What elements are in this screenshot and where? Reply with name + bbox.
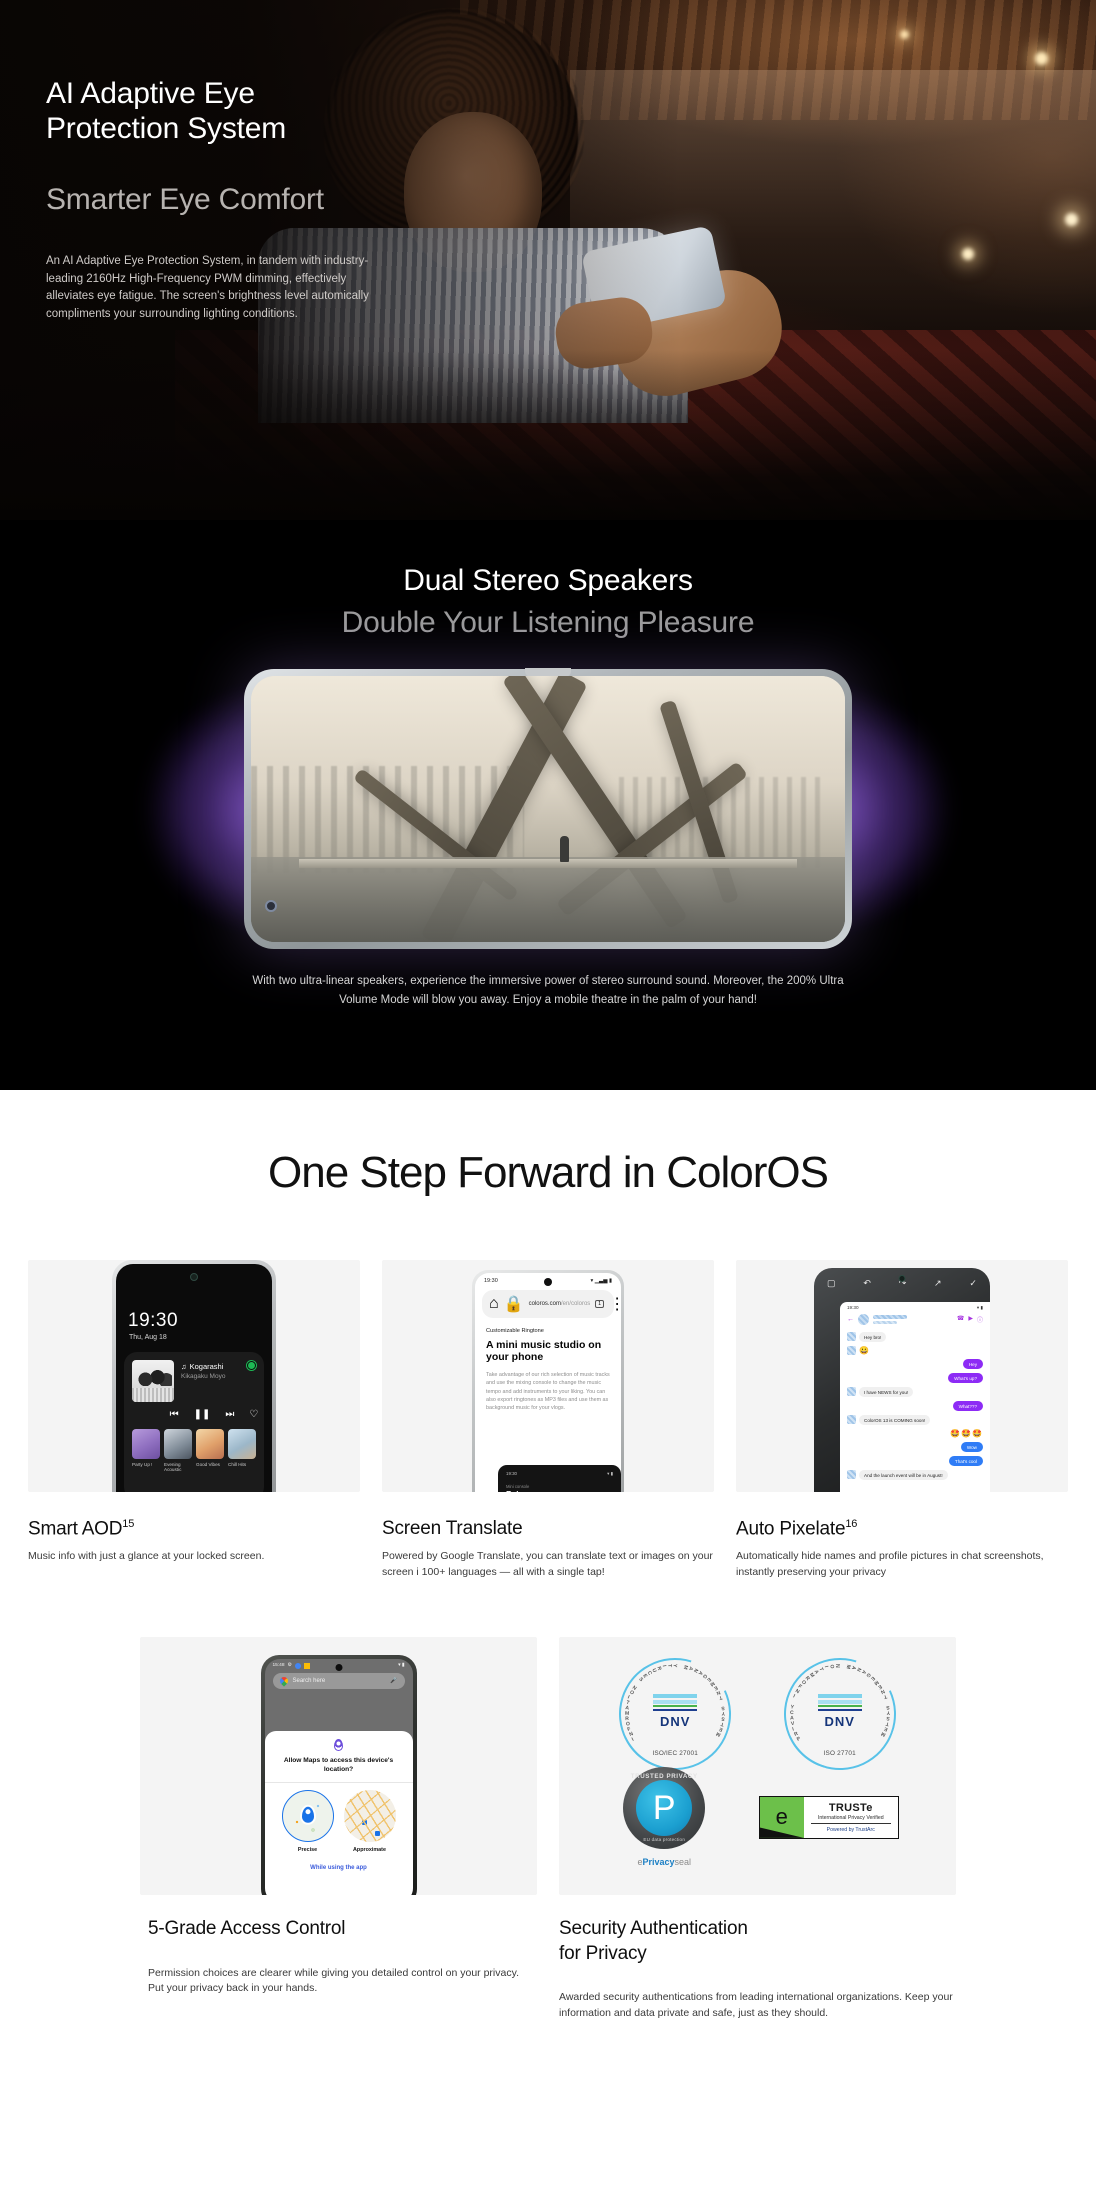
divider bbox=[811, 1823, 891, 1824]
precise-map-preview bbox=[282, 1790, 334, 1842]
feature-card-access-control: 15:48 ⚙ ▾ ▮ Search here 🎤 bbox=[140, 1637, 537, 2022]
security-auth-media: INFORMATION SECURITY MANAGEMENT SYSTEM D… bbox=[559, 1637, 956, 1895]
permission-options: Precise Approximate bbox=[274, 1790, 404, 1853]
bokeh-light bbox=[1035, 52, 1048, 65]
page-heading: A mini music studio on your phone bbox=[486, 1339, 610, 1364]
url-domain: coloros.com bbox=[529, 1301, 561, 1307]
avatar-pixelated bbox=[847, 1470, 856, 1479]
badge-eprivacyseal: TRUSTED PRIVACY P EU data protection ePr… bbox=[616, 1767, 712, 1867]
security-auth-title-line1: Security Authentication bbox=[559, 1918, 748, 1939]
access-control-media: 15:48 ⚙ ▾ ▮ Search here 🎤 bbox=[140, 1637, 537, 1895]
access-control-desc: Permission choices are clearer while giv… bbox=[140, 1966, 537, 1998]
app-badge-icon bbox=[295, 1663, 301, 1669]
undo-icon[interactable]: ↶ bbox=[863, 1278, 871, 1289]
chat-message-row: ColorOS 13 is COMING soon! bbox=[847, 1415, 983, 1425]
aod-now-playing-row: ♫ Kogarashi Kikagaku Moyo bbox=[132, 1360, 256, 1402]
inner-status-icons: ▾ ▮ bbox=[607, 1471, 613, 1477]
speakers-subtitle: Double Your Listening Pleasure bbox=[0, 606, 1096, 640]
auto-pixelate-desc: Automatically hide names and profile pic… bbox=[736, 1549, 1068, 1581]
translate-phone-screen: 19:30 ▾ ▁▃▅ ▮ ⌂ 🔒 coloros.com/en/coloros… bbox=[475, 1273, 621, 1492]
eprivacy-bottom-text: EU data protection bbox=[623, 1837, 705, 1842]
playlist-thumbnail bbox=[228, 1429, 256, 1459]
game-hud-icon bbox=[265, 900, 277, 912]
dual-stereo-speakers-section: Dual Stereo Speakers Double Your Listeni… bbox=[0, 520, 1096, 1090]
certification-badges: INFORMATION SECURITY MANAGEMENT SYSTEM D… bbox=[559, 1637, 956, 1895]
dnv-logo: DNV bbox=[653, 1694, 697, 1729]
truste-text-block: TRUSTe International Privacy Verified Po… bbox=[804, 1797, 898, 1838]
aod-playlist-row: Party Up ! Evening Acoustic Good Vibes bbox=[132, 1429, 256, 1473]
badge-dnv-iso-27701: PRIVACY INFORMATION MANAGEMENT SYSTEM DN… bbox=[784, 1658, 896, 1770]
dnv-logo: DNV bbox=[818, 1694, 862, 1729]
approximate-map-preview bbox=[344, 1790, 396, 1842]
permission-dialog: Allow Maps to access this device's locat… bbox=[265, 1731, 413, 1895]
playlist-item[interactable]: Good Vibes bbox=[196, 1429, 224, 1473]
truste-powered-by: Powered by TrustArc bbox=[808, 1827, 894, 1833]
translate-phone-mock: 19:30 ▾ ▁▃▅ ▮ ⌂ 🔒 coloros.com/en/coloros… bbox=[472, 1270, 624, 1492]
while-using-app-button[interactable]: While using the app bbox=[274, 1865, 404, 1871]
precise-location-pin-icon bbox=[302, 1806, 314, 1822]
playlist-label: Good Vibes bbox=[196, 1462, 224, 1468]
chat-bubble-outgoing: What??? bbox=[953, 1401, 983, 1411]
feature-card-smart-aod: 19:30 Thu, Aug 18 ♫ Kogarashi bbox=[28, 1260, 360, 1581]
playlist-item[interactable]: Evening Acoustic bbox=[164, 1429, 192, 1473]
eprivacy-caption: ePrivacyseal bbox=[616, 1857, 712, 1867]
browser-url-bar[interactable]: ⌂ 🔒 coloros.com/en/coloros 1 ⋮ bbox=[482, 1290, 614, 1318]
eye-body-text: An AI Adaptive Eye Protection System, in… bbox=[46, 253, 392, 324]
security-auth-desc: Awarded security authentications from le… bbox=[559, 1990, 956, 2022]
pixelate-phone-mock: ▢ ↶ ↷ ↗ ✓ 19:30 ▾ ▮ ← bbox=[814, 1268, 990, 1492]
auto-pixelate-title: Auto Pixelate16 bbox=[736, 1518, 1068, 1540]
aod-music-widget[interactable]: ♫ Kogarashi Kikagaku Moyo ⏮ ❚❚ ⏭ bbox=[124, 1352, 264, 1492]
chat-status-time: 19:30 bbox=[847, 1305, 859, 1311]
chat-message-row: 🤩🤩🤩 bbox=[847, 1429, 983, 1438]
chat-bubble-outgoing: Wow bbox=[961, 1442, 983, 1452]
chat-bubble-outgoing: Hey bbox=[963, 1359, 983, 1369]
dnv-standard-2: ISO 27701 bbox=[784, 1750, 896, 1757]
dnv-wordmark: DNV bbox=[818, 1714, 862, 1729]
chat-bubble-incoming: Hey bro! bbox=[859, 1332, 886, 1342]
game-scene-character bbox=[560, 836, 569, 862]
smart-aod-desc: Music info with just a glance at your lo… bbox=[28, 1549, 360, 1565]
avatar-pixelated bbox=[847, 1387, 856, 1396]
feature-card-security-auth: INFORMATION SECURITY MANAGEMENT SYSTEM D… bbox=[559, 1637, 956, 2022]
truste-wordmark: TRUSTe bbox=[808, 1802, 894, 1814]
chat-header-actions[interactable]: ☎ ▶ ⓘ bbox=[957, 1315, 983, 1324]
aod-phone-screen: 19:30 Thu, Aug 18 ♫ Kogarashi bbox=[116, 1264, 272, 1492]
auto-pixelate-title-text: Auto Pixelate bbox=[736, 1518, 845, 1539]
chat-message-row: I have NEWS for you! bbox=[847, 1387, 983, 1397]
maps-search-bar[interactable]: Search here 🎤 bbox=[273, 1673, 405, 1689]
eye-title-line2: Protection System bbox=[46, 112, 286, 145]
next-track-icon[interactable]: ⏭ bbox=[225, 1409, 234, 1420]
maps-phone-screen: 15:48 ⚙ ▾ ▮ Search here 🎤 bbox=[265, 1659, 413, 1895]
status-icons: ▾ ▁▃▅ ▮ bbox=[590, 1278, 612, 1284]
chat-message-row: Hey bbox=[847, 1359, 983, 1369]
avatar-pixelated bbox=[847, 1346, 856, 1355]
aod-track-title: Kogarashi bbox=[190, 1362, 224, 1371]
precise-option[interactable]: Precise bbox=[282, 1790, 334, 1853]
certification-row-top: INFORMATION SECURITY MANAGEMENT SYSTEM D… bbox=[593, 1663, 922, 1766]
avatar-pixelated bbox=[847, 1332, 856, 1341]
playlist-label: Chill Hits bbox=[228, 1462, 256, 1468]
avatar bbox=[858, 1314, 869, 1325]
chat-bubble-incoming: ColorOS 13 is COMING soon! bbox=[859, 1415, 930, 1425]
app-badge-icon bbox=[304, 1663, 310, 1669]
contact-name-pixelated bbox=[873, 1315, 953, 1324]
aod-playback-controls[interactable]: ⏮ ❚❚ ⏭ ♡ bbox=[172, 1409, 256, 1420]
security-auth-title-line2: for Privacy bbox=[559, 1943, 647, 1964]
share-icon[interactable]: ↗ bbox=[934, 1278, 942, 1289]
area-marker-icon bbox=[375, 1831, 380, 1836]
dnv-standard-1: ISO/IEC 27001 bbox=[619, 1750, 731, 1757]
maps-search-placeholder: Search here bbox=[293, 1678, 386, 1684]
playlist-item[interactable]: Party Up ! bbox=[132, 1429, 160, 1473]
badge-dnv-iso-27001: INFORMATION SECURITY MANAGEMENT SYSTEM D… bbox=[619, 1658, 731, 1770]
page-paragraph: Take advantage of our rich selection of … bbox=[486, 1371, 610, 1413]
overflow-menu-icon[interactable]: ⋮ bbox=[609, 1294, 621, 1314]
eye-subtitle: Smarter Eye Comfort bbox=[46, 183, 392, 217]
chat-message-list: Hey bro! 😀 Hey What's up? I have NEWS fo… bbox=[840, 1329, 990, 1483]
aod-date: Thu, Aug 18 bbox=[129, 1334, 167, 1341]
bokeh-light bbox=[900, 30, 909, 39]
game-scene-water bbox=[251, 857, 845, 942]
page-content: Customizable Ringtone A mini music studi… bbox=[475, 1318, 621, 1413]
maps-phone-mock: 15:48 ⚙ ▾ ▮ Search here 🎤 bbox=[261, 1655, 417, 1895]
approximate-label: Approximate bbox=[344, 1847, 396, 1853]
page-eyebrow: Customizable Ringtone bbox=[486, 1328, 610, 1334]
landscape-phone-mock bbox=[244, 669, 852, 949]
url-path: /en/coloros bbox=[561, 1301, 590, 1307]
coloros-feature-grid: 19:30 Thu, Aug 18 ♫ Kogarashi bbox=[0, 1260, 1096, 1581]
gear-icon: ⚙ bbox=[288, 1663, 292, 1668]
phone-call-icon[interactable]: ☎ bbox=[957, 1315, 964, 1324]
auto-pixelate-footnote: 16 bbox=[845, 1518, 857, 1530]
music-note-icon: ♫ bbox=[181, 1362, 187, 1371]
truste-logo-icon bbox=[760, 1797, 804, 1838]
smart-aod-footnote: 15 bbox=[122, 1518, 134, 1530]
auto-pixelate-media: ▢ ↶ ↷ ↗ ✓ 19:30 ▾ ▮ ← bbox=[736, 1260, 1068, 1492]
crop-icon[interactable]: ▢ bbox=[827, 1278, 836, 1289]
smart-aod-title: Smart AOD15 bbox=[28, 1518, 360, 1540]
truste-subtitle: International Privacy Verified bbox=[808, 1815, 894, 1821]
chat-status-icons: ▾ ▮ bbox=[977, 1305, 983, 1311]
aod-phone-mock: 19:30 Thu, Aug 18 ♫ Kogarashi bbox=[112, 1260, 276, 1492]
chat-bubble-incoming: I have NEWS for you! bbox=[859, 1387, 913, 1397]
spotify-indicator-icon bbox=[247, 1361, 256, 1370]
punch-hole-camera-icon bbox=[335, 1664, 342, 1671]
divider bbox=[265, 1782, 413, 1783]
eprivacy-caption-privacy: Privacy bbox=[642, 1857, 674, 1867]
aod-track-meta: ♫ Kogarashi Kikagaku Moyo bbox=[181, 1360, 256, 1380]
aod-time: 19:30 bbox=[128, 1310, 178, 1332]
playlist-label: Party Up ! bbox=[132, 1462, 160, 1468]
location-pin-icon bbox=[334, 1739, 343, 1751]
approximate-option[interactable]: Approximate bbox=[344, 1790, 396, 1853]
avatar-pixelated bbox=[847, 1415, 856, 1424]
maps-status-time: 15:48 bbox=[273, 1663, 285, 1668]
chat-message-row: What??? bbox=[847, 1401, 983, 1411]
chat-message-row: 😀 bbox=[847, 1346, 983, 1355]
chat-message-row: Wow bbox=[847, 1442, 983, 1452]
playlist-item[interactable]: Chill Hits bbox=[228, 1429, 256, 1473]
eye-copy-block: AI Adaptive Eye Protection System Smarte… bbox=[46, 76, 392, 324]
google-maps-pin-icon bbox=[278, 1675, 289, 1686]
inner-status-time: 19:30 bbox=[506, 1471, 517, 1477]
bottom-vignette bbox=[0, 350, 1096, 520]
feature-card-auto-pixelate: ▢ ↶ ↷ ↗ ✓ 19:30 ▾ ▮ ← bbox=[736, 1260, 1068, 1581]
chat-message-row: Hey bro! bbox=[847, 1332, 983, 1342]
aod-artist: Kikagaku Moyo bbox=[181, 1373, 256, 1380]
chat-bubble-outgoing: What's up? bbox=[948, 1373, 983, 1383]
area-marker-icon bbox=[362, 1820, 367, 1825]
badge-truste: TRUSTe International Privacy Verified Po… bbox=[759, 1796, 899, 1839]
eye-title-line1: AI Adaptive Eye bbox=[46, 77, 255, 110]
permission-question: Allow Maps to access this device's locat… bbox=[274, 1757, 404, 1775]
precise-label: Precise bbox=[282, 1847, 334, 1853]
aod-track-line: ♫ Kogarashi bbox=[181, 1362, 256, 1371]
playlist-label: Evening Acoustic bbox=[164, 1462, 192, 1473]
chat-emoji-incoming: 😀 bbox=[859, 1346, 870, 1355]
microphone-icon[interactable]: 🎤 bbox=[390, 1677, 397, 1684]
eye-protection-hero: AI Adaptive Eye Protection System Smarte… bbox=[0, 0, 1096, 520]
front-camera-icon bbox=[899, 1275, 906, 1282]
speakers-body-text: With two ultra-linear speakers, experien… bbox=[248, 954, 848, 1009]
check-icon[interactable]: ✓ bbox=[969, 1278, 977, 1289]
chat-emoji-row: 🤩🤩🤩 bbox=[950, 1429, 983, 1438]
lock-icon: 🔒 bbox=[504, 1294, 524, 1314]
certification-row-bottom: TRUSTED PRIVACY P EU data protection ePr… bbox=[593, 1766, 922, 1869]
chat-bubble-outgoing: That's cool bbox=[949, 1456, 983, 1466]
pause-icon[interactable]: ❚❚ bbox=[194, 1409, 211, 1420]
album-art bbox=[132, 1360, 174, 1402]
inner-device-mock: 19:30 ▾ ▮ Mini console Relax Generate bbox=[498, 1465, 621, 1492]
chat-status-bar: 19:30 ▾ ▮ bbox=[840, 1302, 990, 1312]
bokeh-light bbox=[1065, 213, 1078, 226]
browser-url: coloros.com/en/coloros bbox=[529, 1301, 591, 1307]
eprivacy-caption-seal: seal bbox=[675, 1857, 692, 1867]
chat-message-row: What's up? bbox=[847, 1373, 983, 1383]
tab-count-icon[interactable]: 1 bbox=[595, 1300, 604, 1308]
screen-translate-title: Screen Translate bbox=[382, 1518, 714, 1540]
speakers-stage bbox=[0, 664, 1096, 954]
playlist-thumbnail bbox=[132, 1429, 160, 1459]
chat-bubble-incoming: And the launch event will be in August! bbox=[859, 1470, 948, 1480]
coloros-title: One Step Forward in ColorOS bbox=[0, 1148, 1096, 1198]
playlist-thumbnail bbox=[196, 1429, 224, 1459]
heart-icon[interactable]: ♡ bbox=[249, 1409, 258, 1420]
speakers-title: Dual Stereo Speakers bbox=[0, 520, 1096, 598]
smart-aod-media: 19:30 Thu, Aug 18 ♫ Kogarashi bbox=[28, 1260, 360, 1492]
bokeh-light bbox=[962, 248, 974, 260]
game-scene-platform bbox=[299, 859, 798, 868]
eye-title: AI Adaptive Eye Protection System bbox=[46, 76, 392, 147]
security-auth-title: Security Authentication for Privacy bbox=[559, 1917, 956, 1966]
front-camera-icon bbox=[190, 1273, 198, 1281]
tab-count: 1 bbox=[598, 1301, 601, 1307]
chat-screenshot: 19:30 ▾ ▮ ← ☎ ▶ bbox=[840, 1302, 990, 1492]
status-time: 19:30 bbox=[484, 1278, 498, 1284]
info-icon[interactable]: ⓘ bbox=[977, 1315, 983, 1324]
dnv-wordmark: DNV bbox=[653, 1714, 697, 1729]
coloros-section: One Step Forward in ColorOS 19:30 Thu, A… bbox=[0, 1090, 1096, 2082]
access-control-title: 5-Grade Access Control bbox=[140, 1917, 537, 1942]
screen-translate-desc: Powered by Google Translate, you can tra… bbox=[382, 1549, 714, 1581]
phone-screen bbox=[251, 676, 845, 942]
chat-message-row: That's cool bbox=[847, 1456, 983, 1466]
chat-header: ← ☎ ▶ ⓘ bbox=[840, 1312, 990, 1329]
eprivacy-seal-graphic: TRUSTED PRIVACY P EU data protection bbox=[623, 1767, 705, 1849]
screen-translate-media: 19:30 ▾ ▁▃▅ ▮ ⌂ 🔒 coloros.com/en/coloros… bbox=[382, 1260, 714, 1492]
back-arrow-icon[interactable]: ← bbox=[847, 1316, 854, 1323]
maps-status-icons: ▾ ▮ bbox=[398, 1663, 404, 1668]
inner-status-bar: 19:30 ▾ ▮ bbox=[506, 1471, 613, 1477]
inner-label: Mini console bbox=[506, 1484, 613, 1489]
inner-title: Relax bbox=[506, 1490, 613, 1492]
smart-aod-title-text: Smart AOD bbox=[28, 1518, 122, 1539]
chat-message-row: And the launch event will be in August! bbox=[847, 1470, 983, 1480]
playlist-thumbnail bbox=[164, 1429, 192, 1459]
feature-card-screen-translate: 19:30 ▾ ▁▃▅ ▮ ⌂ 🔒 coloros.com/en/coloros… bbox=[382, 1260, 714, 1581]
previous-track-icon[interactable]: ⏮ bbox=[170, 1409, 179, 1420]
coloros-privacy-grid: 15:48 ⚙ ▾ ▮ Search here 🎤 bbox=[0, 1637, 1096, 2022]
home-icon[interactable]: ⌂ bbox=[489, 1295, 499, 1313]
punch-hole-camera-icon bbox=[544, 1278, 552, 1286]
video-call-icon[interactable]: ▶ bbox=[968, 1315, 973, 1324]
